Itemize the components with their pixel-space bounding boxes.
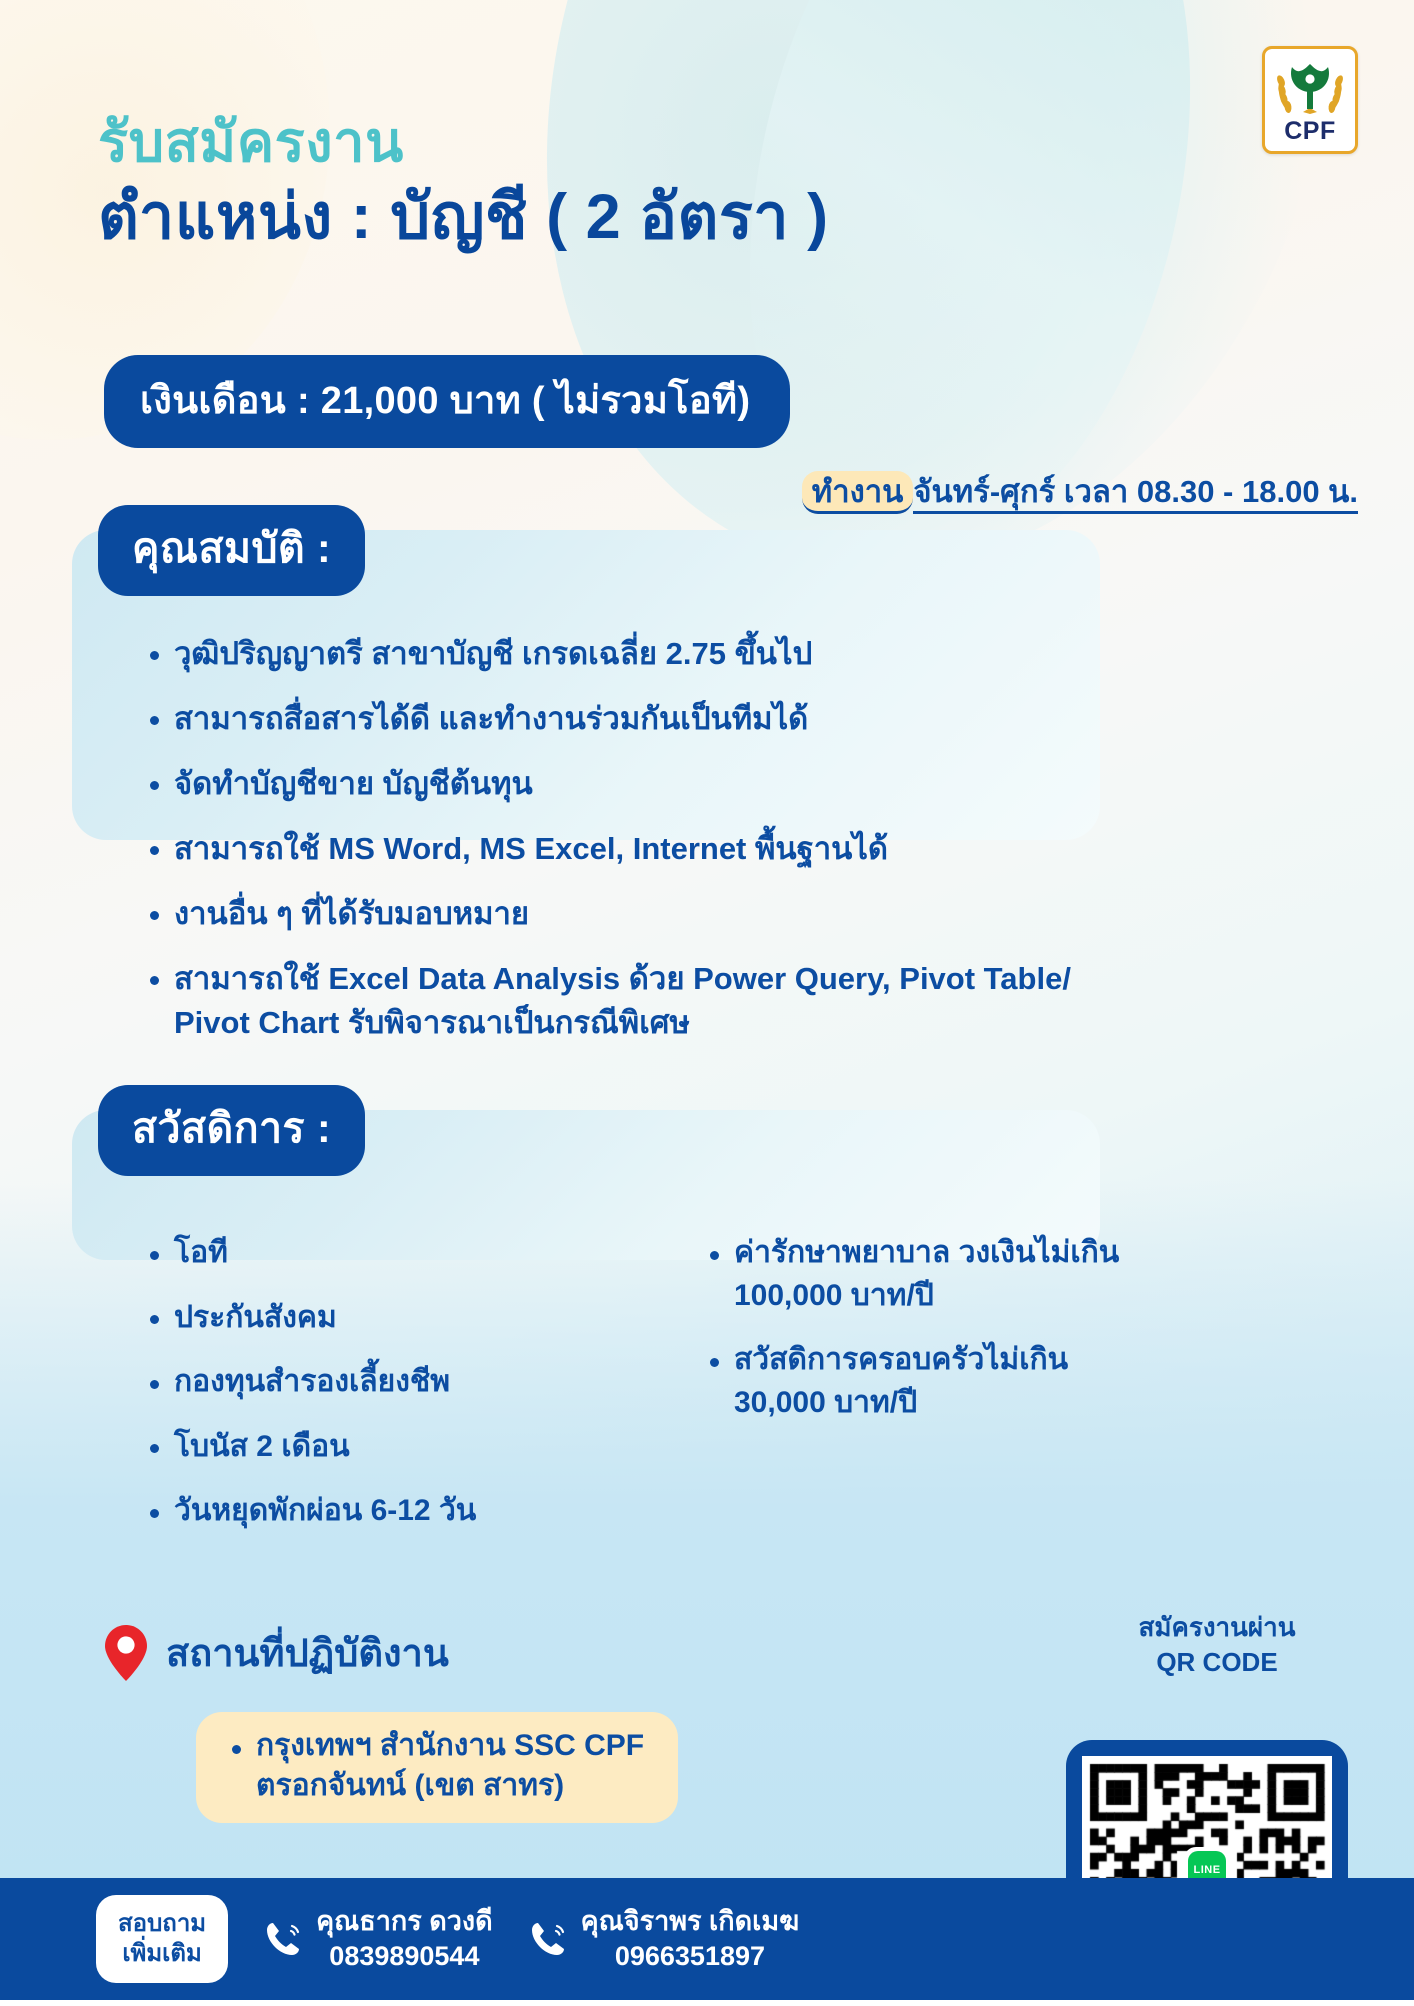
working-hours: ทำงานจันทร์-ศุกร์ เวลา 08.30 - 18.00 น. (802, 466, 1358, 516)
list-item: งานอื่น ๆ ที่ได้รับมอบหมาย (140, 892, 1080, 936)
address-line-1: กรุงเทพฯ สำนักงาน SSC CPF (256, 1729, 644, 1762)
list-item: วันหยุดพักผ่อน 6-12 วัน (140, 1490, 570, 1533)
working-hours-label: ทำงาน (802, 471, 914, 514)
address-line-2: ตรอกจันทน์ (เขต สาทร) (256, 1769, 564, 1802)
list-item: สามารถใช้ Excel Data Analysis ด้วย Power… (140, 957, 1080, 1045)
map-pin-icon (104, 1624, 148, 1682)
list-item: สวัสดิการครอบครัวไม่เกิน 30,000 บาท/ปี (700, 1339, 1150, 1424)
contact-2[interactable]: คุณจิราพร เกิดเมฆ 0966351897 (529, 1904, 800, 1974)
contact-1-text: คุณธากร ดวงดี 0839890544 (316, 1904, 493, 1974)
ask-more-line-1: สอบถาม (118, 1909, 206, 1939)
cpf-logo: CPF (1262, 46, 1358, 154)
location-header: สถานที่ปฏิบัติงาน (104, 1622, 449, 1683)
phone-icon (264, 1920, 302, 1958)
location-title: สถานที่ปฏิบัติงาน (166, 1622, 449, 1683)
list-item: วุฒิปริญญาตรี สาขาบัญชี เกรดเฉลี่ย 2.75 … (140, 632, 1080, 676)
page-title: ตำแหน่ง : บัญชี ( 2 อัตรา ) (98, 180, 1098, 254)
contact-1-name: คุณธากร ดวงดี (316, 1904, 493, 1939)
list-item: โอที (140, 1232, 570, 1275)
salary-badge: เงินเดือน : 21,000 บาท ( ไม่รวมโอที) (104, 355, 790, 448)
phone-icon (529, 1920, 567, 1958)
list-item: ค่ารักษาพยาบาล วงเงินไม่เกิน 100,000 บาท… (700, 1232, 1150, 1317)
contact-1[interactable]: คุณธากร ดวงดี 0839890544 (264, 1904, 493, 1974)
list-item: ประกันสังคม (140, 1297, 570, 1340)
working-hours-value: จันทร์-ศุกร์ เวลา 08.30 - 18.00 น. (913, 474, 1358, 514)
poster-header: รับสมัครงาน ตำแหน่ง : บัญชี ( 2 อัตรา ) (98, 112, 1098, 255)
ask-more-badge: สอบถาม เพิ่มเติม (96, 1895, 228, 1983)
qr-caption-line-2: QR CODE (1092, 1645, 1342, 1680)
benefits-heading: สวัสดิการ : (98, 1085, 365, 1176)
qr-caption: สมัครงานผ่าน QR CODE (1092, 1610, 1342, 1680)
qualifications-heading: คุณสมบัติ : (98, 505, 365, 596)
cpf-logo-text: CPF (1284, 119, 1336, 144)
location-address-card: กรุงเทพฯ สำนักงาน SSC CPFตรอกจันทน์ (เขต… (196, 1712, 678, 1823)
list-item: สามารถสื่อสารได้ดี และทำงานร่วมกันเป็นที… (140, 697, 1080, 741)
contact-1-phone[interactable]: 0839890544 (316, 1939, 493, 1974)
list-item: จัดทำบัญชีขาย บัญชีต้นทุน (140, 762, 1080, 806)
list-item: กองทุนสำรองเลี้ยงชีพ (140, 1361, 570, 1404)
footer-contact-bar: สอบถาม เพิ่มเติม คุณธากร ดวงดี 083989054… (0, 1878, 1414, 2000)
benefits-list-left: โอที ประกันสังคม กองทุนสำรองเลี้ยงชีพ โบ… (140, 1232, 570, 1555)
contact-2-phone[interactable]: 0966351897 (581, 1939, 800, 1974)
list-item: โบนัส 2 เดือน (140, 1426, 570, 1469)
benefits-list-right: ค่ารักษาพยาบาล วงเงินไม่เกิน 100,000 บาท… (700, 1232, 1150, 1446)
contact-2-name: คุณจิราพร เกิดเมฆ (581, 1904, 800, 1939)
qualifications-list: วุฒิปริญญาตรี สาขาบัญชี เกรดเฉลี่ย 2.75 … (140, 632, 1080, 1066)
contact-2-text: คุณจิราพร เกิดเมฆ 0966351897 (581, 1904, 800, 1974)
header-kicker: รับสมัครงาน (98, 112, 1098, 172)
list-item: กรุงเทพฯ สำนักงาน SSC CPFตรอกจันทน์ (เขต… (222, 1726, 644, 1805)
qr-caption-line-1: สมัครงานผ่าน (1092, 1610, 1342, 1645)
list-item: สามารถใช้ MS Word, MS Excel, Internet พื… (140, 827, 1080, 871)
ask-more-line-2: เพิ่มเติม (118, 1939, 206, 1969)
cpf-wheat-emblem-icon (1273, 56, 1347, 118)
